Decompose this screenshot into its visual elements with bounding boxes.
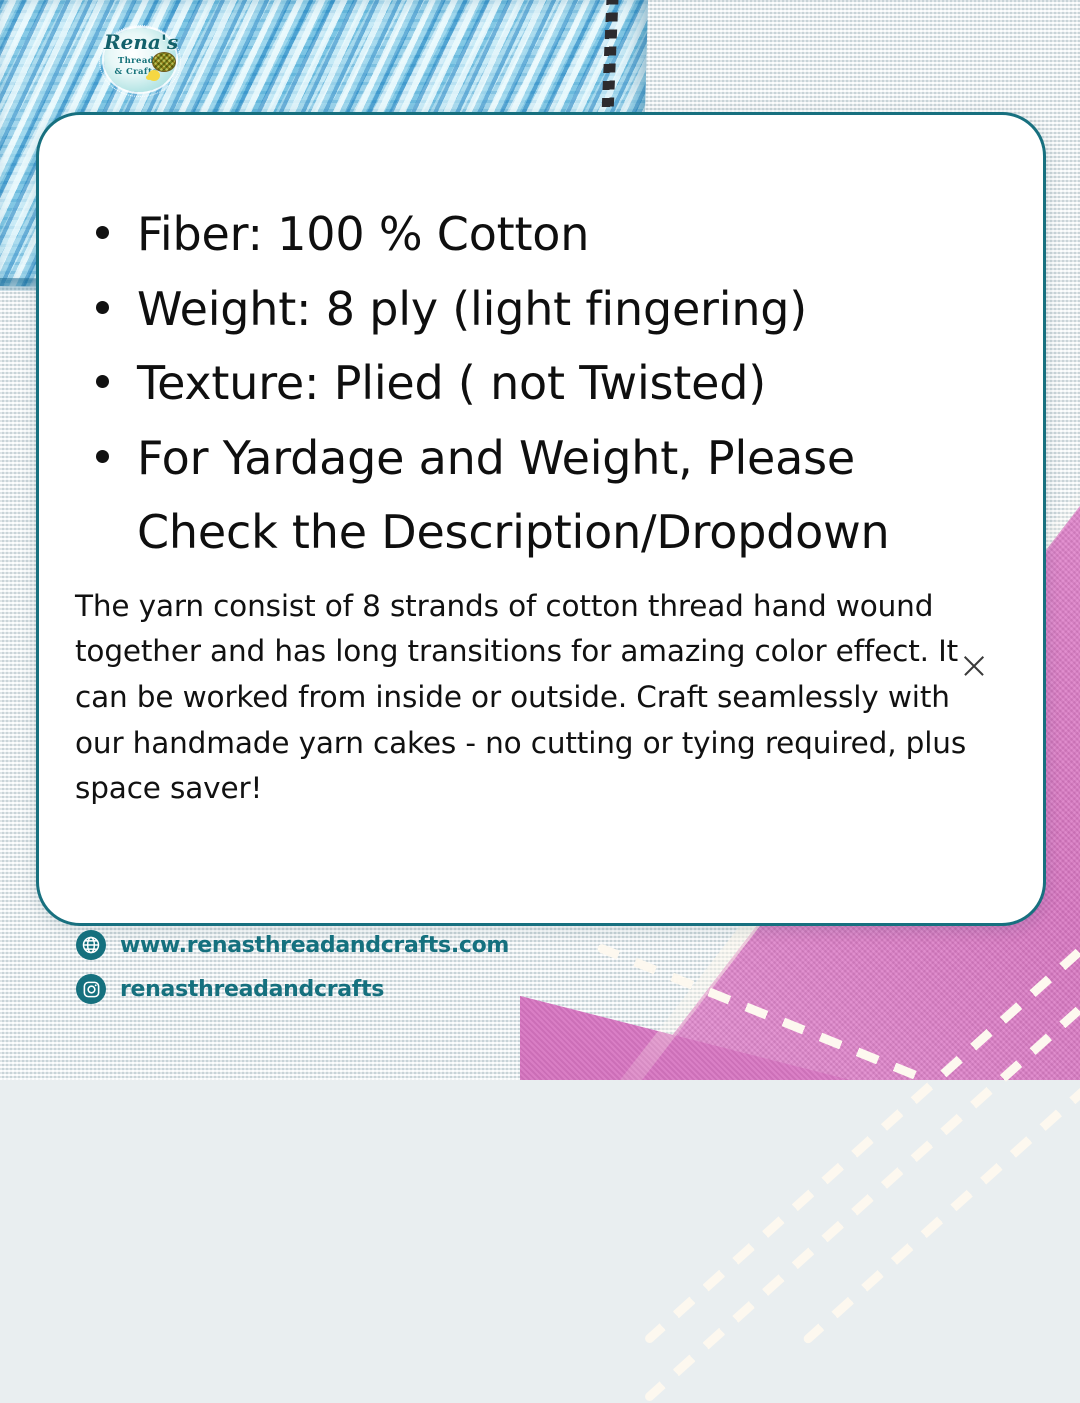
logo-brand-name: Rena's <box>104 32 176 52</box>
list-item: For Yardage and Weight, Please Check the… <box>87 421 1003 570</box>
list-item: Texture: Plied ( not Twisted) <box>87 346 1003 421</box>
footer-website-link[interactable]: www.renasthreadandcrafts.com <box>76 930 509 960</box>
list-item: Weight: 8 ply (light fingering) <box>87 272 1003 347</box>
list-item: Fiber: 100 % Cotton <box>87 197 1003 272</box>
yarn-tail-icon <box>148 70 160 81</box>
close-icon[interactable] <box>961 653 987 679</box>
stitch-dashes-row <box>802 1057 1080 1345</box>
footer-instagram-link[interactable]: renasthreadandcrafts <box>76 974 509 1004</box>
footer-contact-links: www.renasthreadandcrafts.com renasthread… <box>76 930 509 1018</box>
globe-icon <box>76 930 106 960</box>
product-description: The yarn consist of 8 strands of cotton … <box>75 584 999 813</box>
brand-logo: Rena's Thread & Crafts <box>98 24 182 98</box>
footer-website-label: www.renasthreadandcrafts.com <box>120 933 509 958</box>
yarn-ball-icon <box>152 52 176 72</box>
instagram-icon <box>76 974 106 1004</box>
product-info-card: Fiber: 100 % Cotton Weight: 8 ply (light… <box>36 112 1046 926</box>
footer-instagram-label: renasthreadandcrafts <box>120 977 384 1002</box>
product-spec-list: Fiber: 100 % Cotton Weight: 8 ply (light… <box>39 115 1043 570</box>
